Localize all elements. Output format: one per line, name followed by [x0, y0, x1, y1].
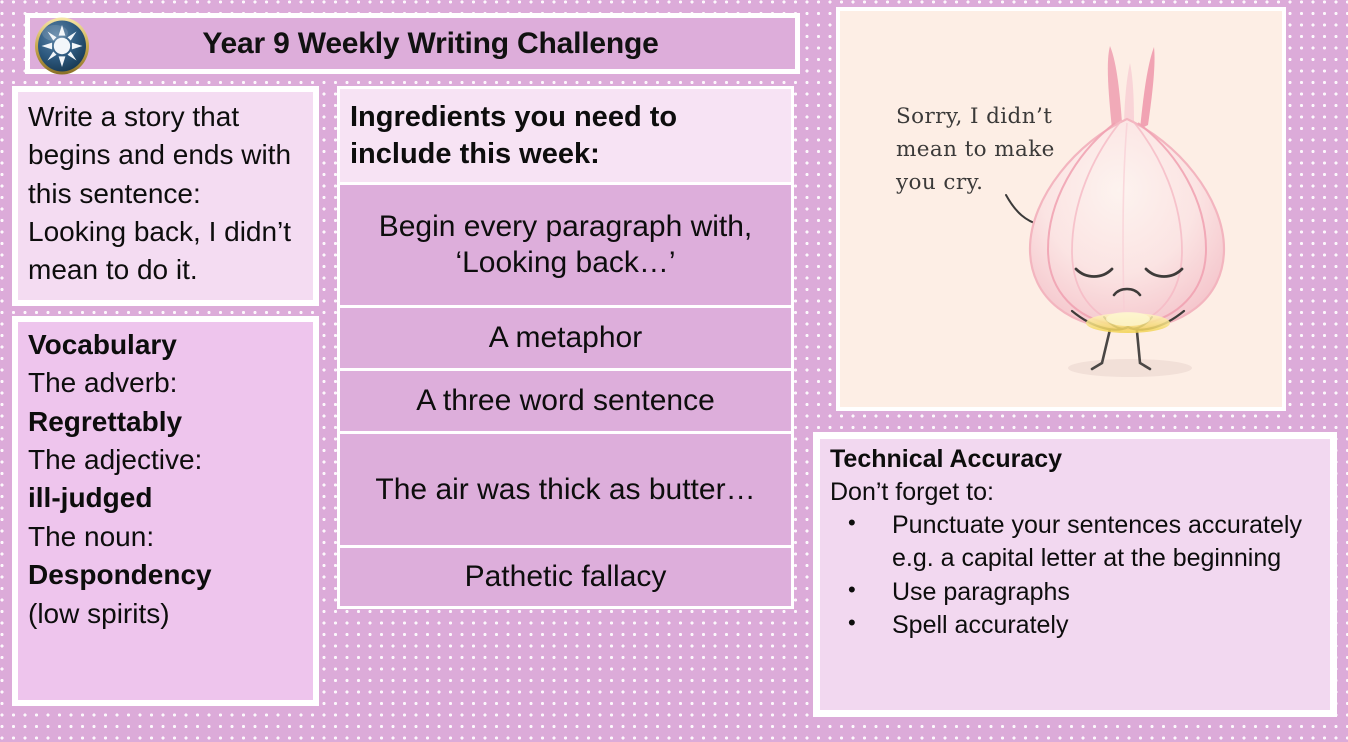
- title-banner-fill: Year 9 Weekly Writing Challenge: [30, 18, 795, 69]
- technical-accuracy-title: Technical Accuracy: [830, 443, 1320, 476]
- vocabulary-note: (low spirits): [28, 595, 303, 633]
- table-row: A three word sentence: [340, 371, 791, 434]
- story-prompt-box: Write a story that begins and ends with …: [12, 86, 319, 306]
- vocabulary-heading: Vocabulary: [28, 326, 303, 364]
- speech-line-3: you cry.: [895, 170, 983, 195]
- technical-accuracy-fill: Technical Accuracy Don’t forget to: Punc…: [820, 439, 1330, 710]
- table-row: Begin every paragraph with, ‘Looking bac…: [340, 185, 791, 308]
- sun-icon: [33, 16, 91, 76]
- page-title: Year 9 Weekly Writing Challenge: [166, 27, 658, 61]
- vocabulary-noun-word: Despondency: [28, 556, 303, 594]
- technical-accuracy-bullets: Punctuate your sentences accurately e.g.…: [830, 509, 1320, 642]
- vocabulary-adjective-label: The adjective:: [28, 441, 303, 479]
- technical-accuracy-box: Technical Accuracy Don’t forget to: Punc…: [813, 432, 1337, 717]
- ingredients-table: Ingredients you need to include this wee…: [337, 86, 794, 609]
- title-banner: Year 9 Weekly Writing Challenge: [25, 13, 800, 74]
- speech-line-1: Sorry, I didn’t: [896, 104, 1052, 129]
- story-prompt-fill: Write a story that begins and ends with …: [18, 92, 313, 300]
- table-row: The air was thick as butter…: [340, 434, 791, 548]
- vocabulary-adjective-word: ill-judged: [28, 479, 303, 517]
- vocabulary-list: Vocabulary The adverb: Regrettably The a…: [28, 326, 303, 633]
- crying-onion-picture: Sorry, I didn’t mean to make you cry.: [836, 7, 1286, 411]
- table-row: A metaphor: [340, 308, 791, 371]
- onion-illustration: Sorry, I didn’t mean to make you cry.: [840, 11, 1282, 407]
- vocabulary-box: Vocabulary The adverb: Regrettably The a…: [12, 316, 319, 706]
- vocabulary-fill: Vocabulary The adverb: Regrettably The a…: [18, 322, 313, 700]
- vocabulary-adverb-label: The adverb:: [28, 364, 303, 402]
- story-prompt-text: Write a story that begins and ends with …: [28, 98, 303, 290]
- list-item: Use paragraphs: [830, 576, 1320, 609]
- vocabulary-noun-label: The noun:: [28, 518, 303, 556]
- vocabulary-adverb-word: Regrettably: [28, 403, 303, 441]
- ingredients-table-header: Ingredients you need to include this wee…: [340, 89, 791, 185]
- list-item: Punctuate your sentences accurately e.g.…: [830, 509, 1320, 576]
- speech-line-2: mean to make: [896, 137, 1055, 162]
- list-item: Spell accurately: [830, 609, 1320, 642]
- table-row: Pathetic fallacy: [340, 548, 791, 606]
- slide-canvas: Year 9 Weekly Writing Challenge: [0, 0, 1348, 742]
- technical-accuracy-subtitle: Don’t forget to:: [830, 476, 1320, 509]
